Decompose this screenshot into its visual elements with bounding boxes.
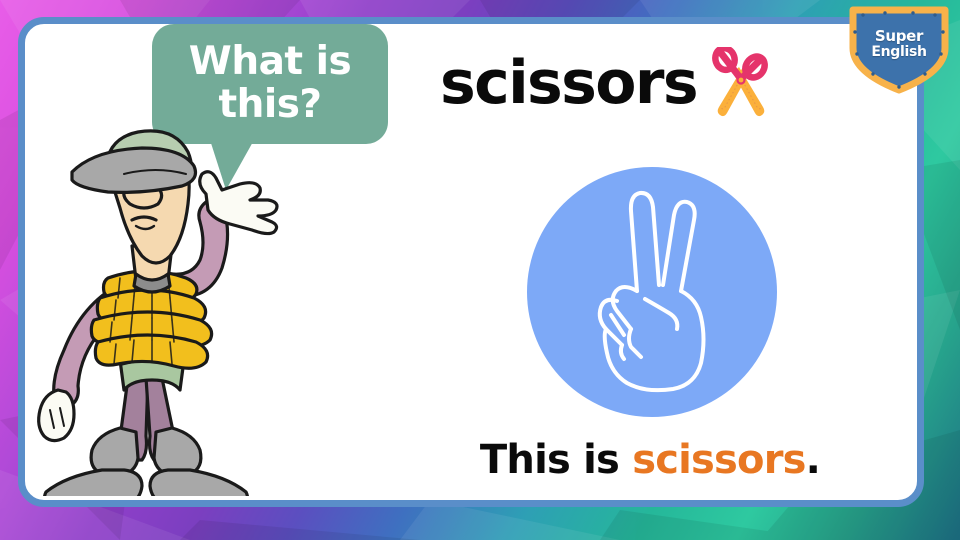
- sentence-highlight: scissors: [632, 437, 805, 483]
- sentence-prefix: This is: [480, 437, 632, 483]
- example-sentence: This is scissors.: [440, 437, 860, 483]
- sentence-suffix: .: [806, 437, 820, 483]
- super-english-logo: Super English: [845, 2, 953, 94]
- shield-icon: [845, 2, 953, 94]
- character-illustration: [24, 128, 280, 496]
- vocabulary-slide: What is this?: [0, 0, 960, 540]
- vocabulary-word: scissors: [440, 53, 697, 113]
- speech-bubble-text: What is this?: [152, 41, 388, 127]
- scissors-emoji: [711, 47, 769, 119]
- vocabulary-word-row: scissors: [440, 44, 860, 122]
- illustration-circle: [527, 167, 777, 417]
- peace-sign-hand-icon: [527, 167, 777, 417]
- speech-bubble: What is this?: [152, 24, 388, 144]
